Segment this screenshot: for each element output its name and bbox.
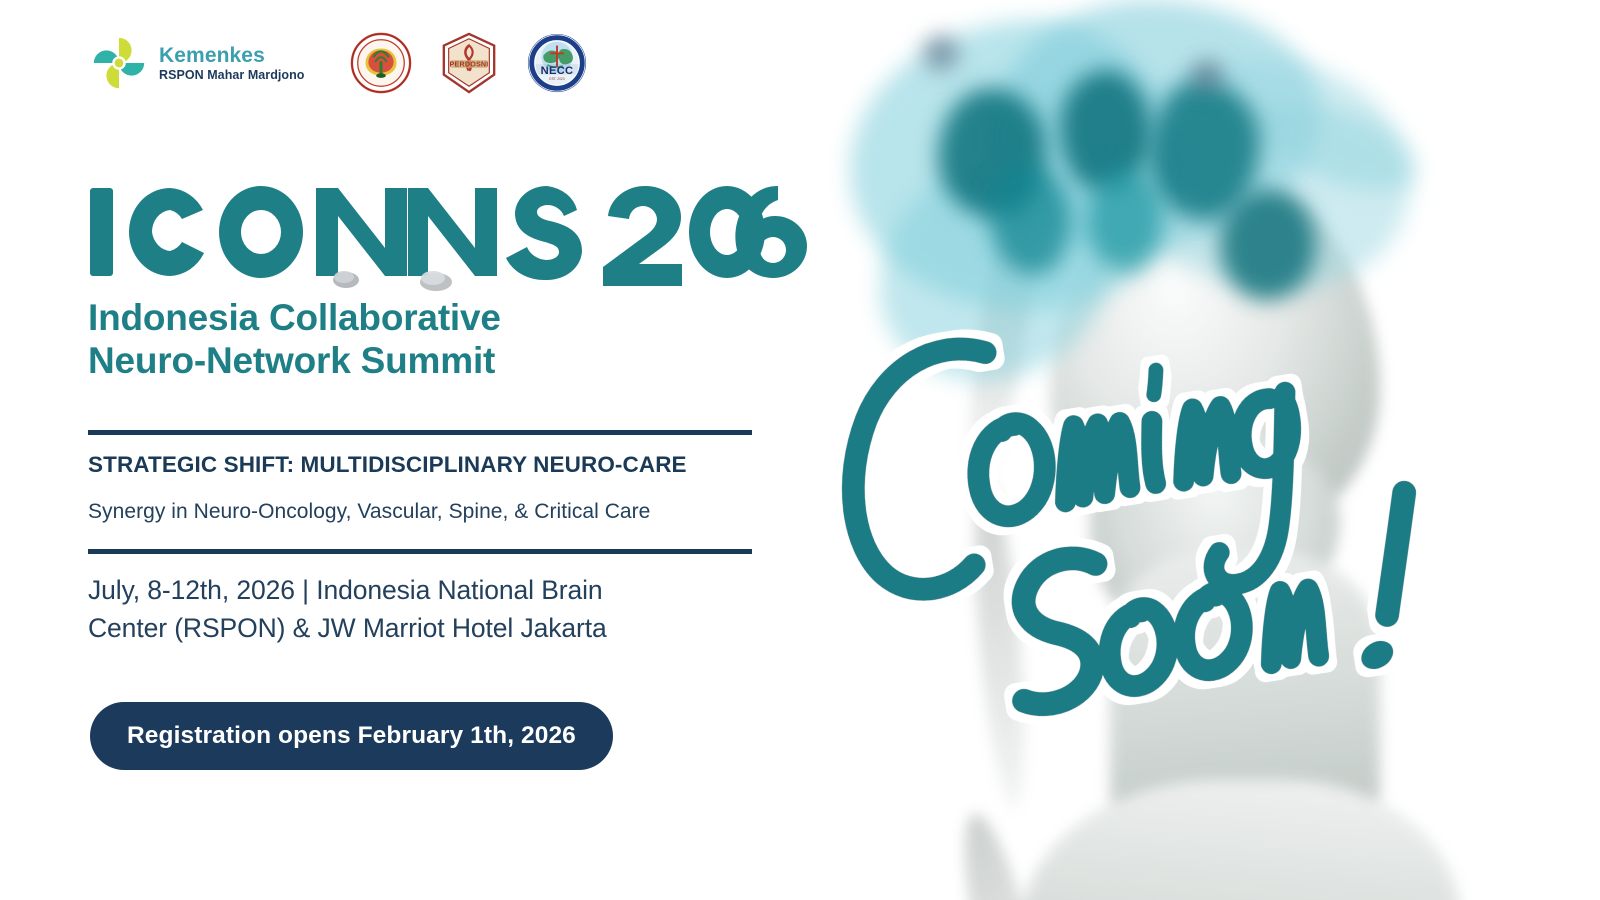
kemenkes-pinwheel-icon	[88, 32, 150, 94]
title-line-1: Indonesia Collaborative	[88, 296, 788, 339]
svg-text:PERDOSNI: PERDOSNI	[450, 60, 489, 68]
theme-tagline: Synergy in Neuro-Oncology, Vascular, Spi…	[88, 500, 788, 524]
event-wordmark	[88, 176, 788, 288]
watercolor-dot	[924, 36, 958, 70]
shoulder-shape	[1020, 780, 1460, 900]
necc-emblem-icon: NECC EST. 2023	[526, 32, 588, 94]
divider-top	[88, 430, 752, 435]
watercolor-dot	[1192, 60, 1222, 90]
kemenkes-wordmark: Kemenkes RSPON Mahar Mardjono	[159, 45, 304, 82]
venue-line-2: Center (RSPON) & JW Marriot Hotel Jakart…	[88, 610, 728, 648]
kemenkes-subtitle: RSPON Mahar Mardjono	[159, 69, 304, 82]
registration-announcement-label: Registration opens February 1th, 2026	[127, 722, 576, 750]
venue-line-1: July, 8-12th, 2026 | Indonesia National …	[88, 572, 728, 610]
kemenkes-name: Kemenkes	[159, 45, 304, 66]
coming-soon-script	[820, 230, 1570, 710]
hero-artwork	[820, 0, 1600, 900]
date-venue: July, 8-12th, 2026 | Indonesia National …	[88, 572, 728, 647]
poster-canvas: Kemenkes RSPON Mahar Mardjono	[0, 0, 1600, 900]
event-full-title: Indonesia Collaborative Neuro-Network Su…	[88, 296, 788, 383]
perdosni-emblem-icon: PERDOSNI	[438, 32, 500, 94]
svg-text:NECC: NECC	[541, 65, 574, 77]
content-column: Kemenkes RSPON Mahar Mardjono	[0, 0, 820, 900]
kemenkes-logo: Kemenkes RSPON Mahar Mardjono	[88, 32, 304, 94]
perspebsi-emblem-icon	[350, 32, 412, 94]
title-line-2: Neuro-Network Summit	[88, 339, 788, 382]
registration-announcement-button[interactable]: Registration opens February 1th, 2026	[90, 702, 613, 770]
logo-strip: Kemenkes RSPON Mahar Mardjono	[88, 32, 588, 94]
divider-bottom	[88, 549, 752, 554]
svg-text:EST. 2023: EST. 2023	[550, 77, 565, 81]
theme-headline: STRATEGIC SHIFT: MULTIDISCIPLINARY NEURO…	[88, 452, 788, 478]
